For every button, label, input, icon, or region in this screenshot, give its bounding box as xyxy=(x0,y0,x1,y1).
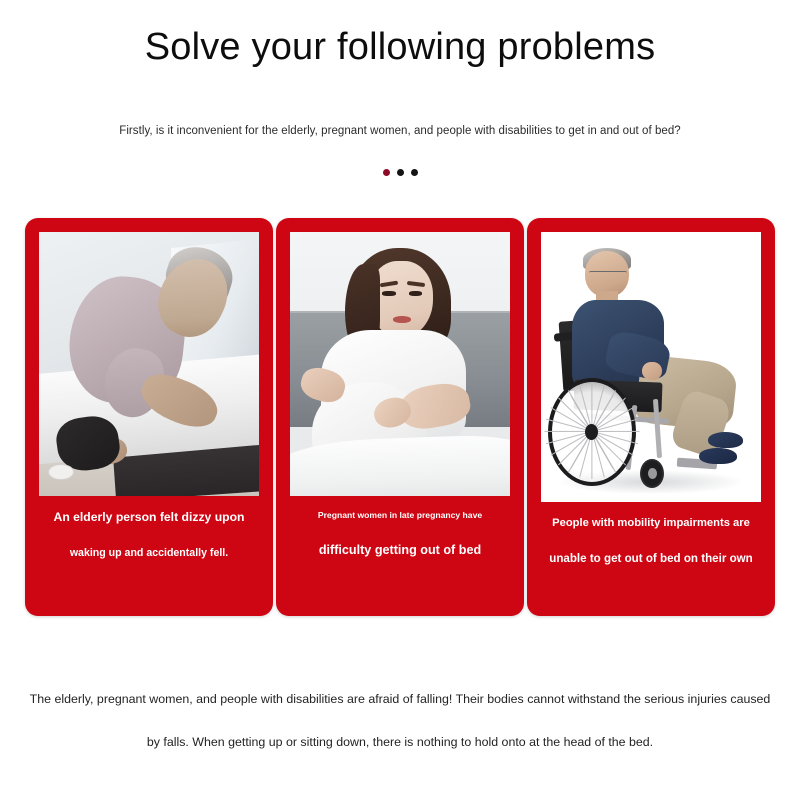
scene-pregnant-woman xyxy=(290,232,510,496)
caption-line-1: An elderly person felt dizzy upon xyxy=(54,510,245,525)
card-pregnant-woman[interactable]: Pregnant women in late pregnancy have di… xyxy=(276,218,524,616)
caption-line-1: People with mobility impairments are xyxy=(552,516,750,530)
card-wheelchair-user[interactable]: People with mobility impairments are una… xyxy=(527,218,775,616)
page-subtitle: Firstly, is it inconvenient for the elde… xyxy=(0,125,800,137)
caption-line-2: unable to get out of bed on their own xyxy=(549,552,753,566)
page-title: Solve your following problems xyxy=(0,26,800,69)
pagination-dot-1[interactable] xyxy=(383,169,390,176)
scene-wheelchair-user xyxy=(541,232,761,502)
problem-cards-row: An elderly person felt dizzy upon waking… xyxy=(25,218,775,616)
footer-line-2: by falls. When getting up or sitting dow… xyxy=(0,721,800,764)
card-elderly-fall-caption: An elderly person felt dizzy upon waking… xyxy=(39,496,259,602)
card-wheelchair-user-photo xyxy=(541,232,761,502)
card-elderly-fall-photo xyxy=(39,232,259,496)
page-root: Solve your following problems Firstly, i… xyxy=(0,0,800,800)
pagination-dot-3[interactable] xyxy=(411,169,418,176)
card-pregnant-woman-photo xyxy=(290,232,510,496)
footer-line-1: The elderly, pregnant women, and people … xyxy=(0,678,800,721)
scene-elderly-fall xyxy=(39,232,259,496)
footer-paragraph: The elderly, pregnant women, and people … xyxy=(0,678,800,764)
caption-line-1: Pregnant women in late pregnancy have xyxy=(318,510,482,521)
card-wheelchair-user-caption: People with mobility impairments are una… xyxy=(541,502,761,602)
caption-line-2: waking up and accidentally fell. xyxy=(70,547,228,560)
caption-line-2: difficulty getting out of bed xyxy=(319,543,481,559)
card-pregnant-woman-caption: Pregnant women in late pregnancy have di… xyxy=(290,496,510,602)
pagination-dots xyxy=(0,169,800,176)
card-elderly-fall[interactable]: An elderly person felt dizzy upon waking… xyxy=(25,218,273,616)
pagination-dot-2[interactable] xyxy=(397,169,404,176)
